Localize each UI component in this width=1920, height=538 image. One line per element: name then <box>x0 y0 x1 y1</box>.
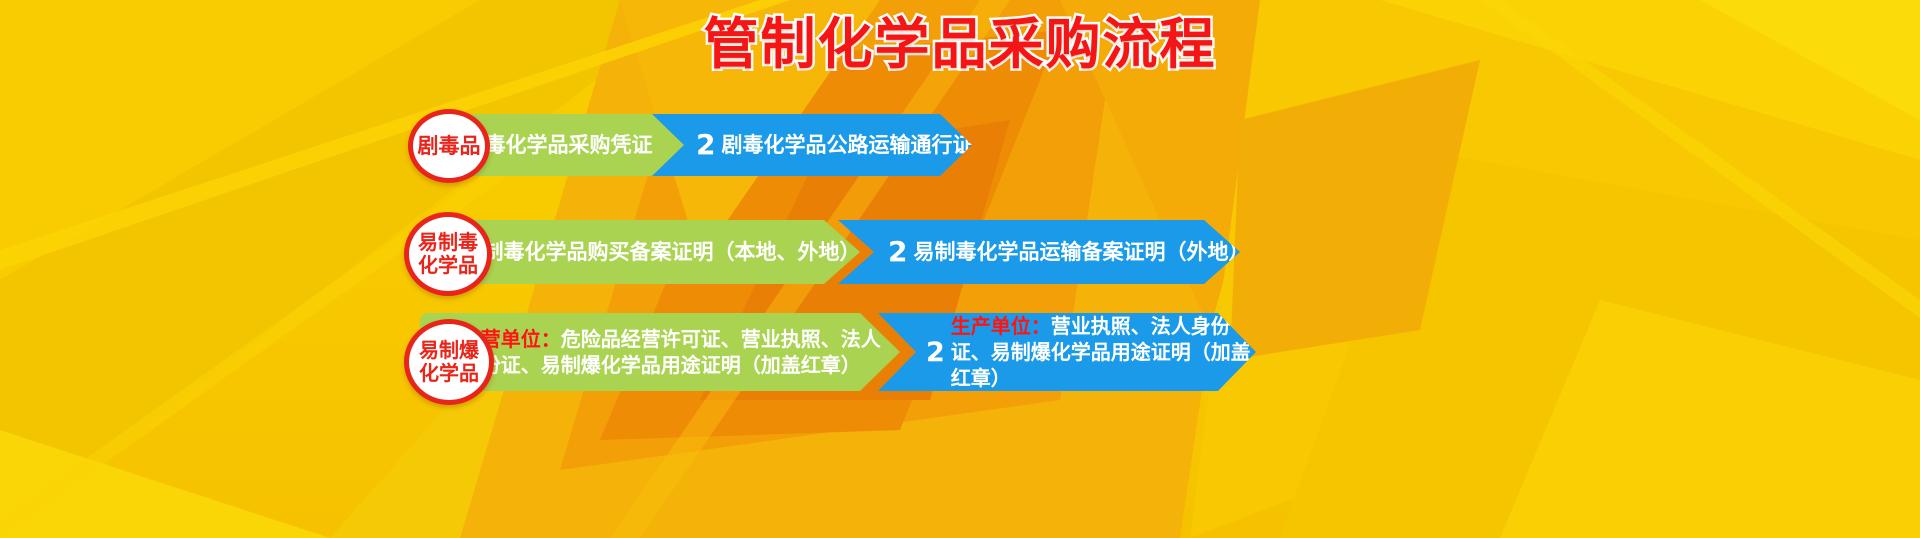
badge-line-1: 易制毒 <box>418 230 478 254</box>
step-label: 生产单位：营业执照、法人身份证、易制爆化学品用途证明（加盖红章） <box>951 313 1256 391</box>
step-label: 剧毒化学品采购凭证 <box>463 133 652 158</box>
flow-row-precursor: 易制毒 化学品 1 易制毒化学品购买备案证明（本地、外地） 2 易制毒化学品运输… <box>0 208 1920 298</box>
badge-line-2: 化学品 <box>418 253 478 277</box>
step-label: 易制毒化学品购买备案证明（本地、外地） <box>461 240 860 265</box>
step-number: 2 <box>888 238 907 266</box>
step-chevron-2-2[interactable]: 2 易制毒化学品运输备案证明（外地） <box>838 220 1240 284</box>
flow-row-toxic: 剧毒品 1 剧毒化学品采购凭证 2 剧毒化学品公路运输通行证 <box>0 100 1920 190</box>
category-badge-label: 易制爆 化学品 <box>419 339 479 385</box>
category-badge-label: 剧毒品 <box>418 134 481 158</box>
category-badge-explosive: 易制爆 化学品 <box>404 319 494 405</box>
step-label-prefix: 生产单位： <box>951 314 1051 338</box>
category-badge-precursor: 易制毒 化学品 <box>404 212 492 296</box>
step-label: 经营单位：危险品经营许可证、营业执照、法人身份证、易制爆化学品用途证明（加盖红章… <box>461 326 900 378</box>
title-container: 管制化学品采购流程 <box>0 6 1920 82</box>
step-chevron-3-2[interactable]: 2 生产单位：营业执照、法人身份证、易制爆化学品用途证明（加盖红章） <box>878 313 1256 391</box>
badge-line-2: 化学品 <box>419 361 479 385</box>
step-label: 易制毒化学品运输备案证明（外地） <box>913 240 1249 265</box>
step-label: 剧毒化学品公路运输通行证 <box>721 133 973 158</box>
flow-row-explosive: 易制爆 化学品 1 经营单位：危险品经营许可证、营业执照、法人身份证、易制爆化学… <box>0 305 1920 410</box>
banner-stage: 管制化学品采购流程 剧毒品 1 剧毒化学品采购凭证 2 剧毒化学品公路运输通行证… <box>0 0 1920 538</box>
category-badge-label: 易制毒 化学品 <box>418 231 478 277</box>
page-title: 管制化学品采购流程 <box>703 6 1216 82</box>
category-badge-toxic: 剧毒品 <box>408 109 490 183</box>
badge-line-1: 易制爆 <box>419 338 479 362</box>
step-number: 2 <box>696 131 715 159</box>
step-number: 2 <box>926 339 945 366</box>
step-chevron-1-2[interactable]: 2 剧毒化学品公路运输通行证 <box>652 114 972 176</box>
